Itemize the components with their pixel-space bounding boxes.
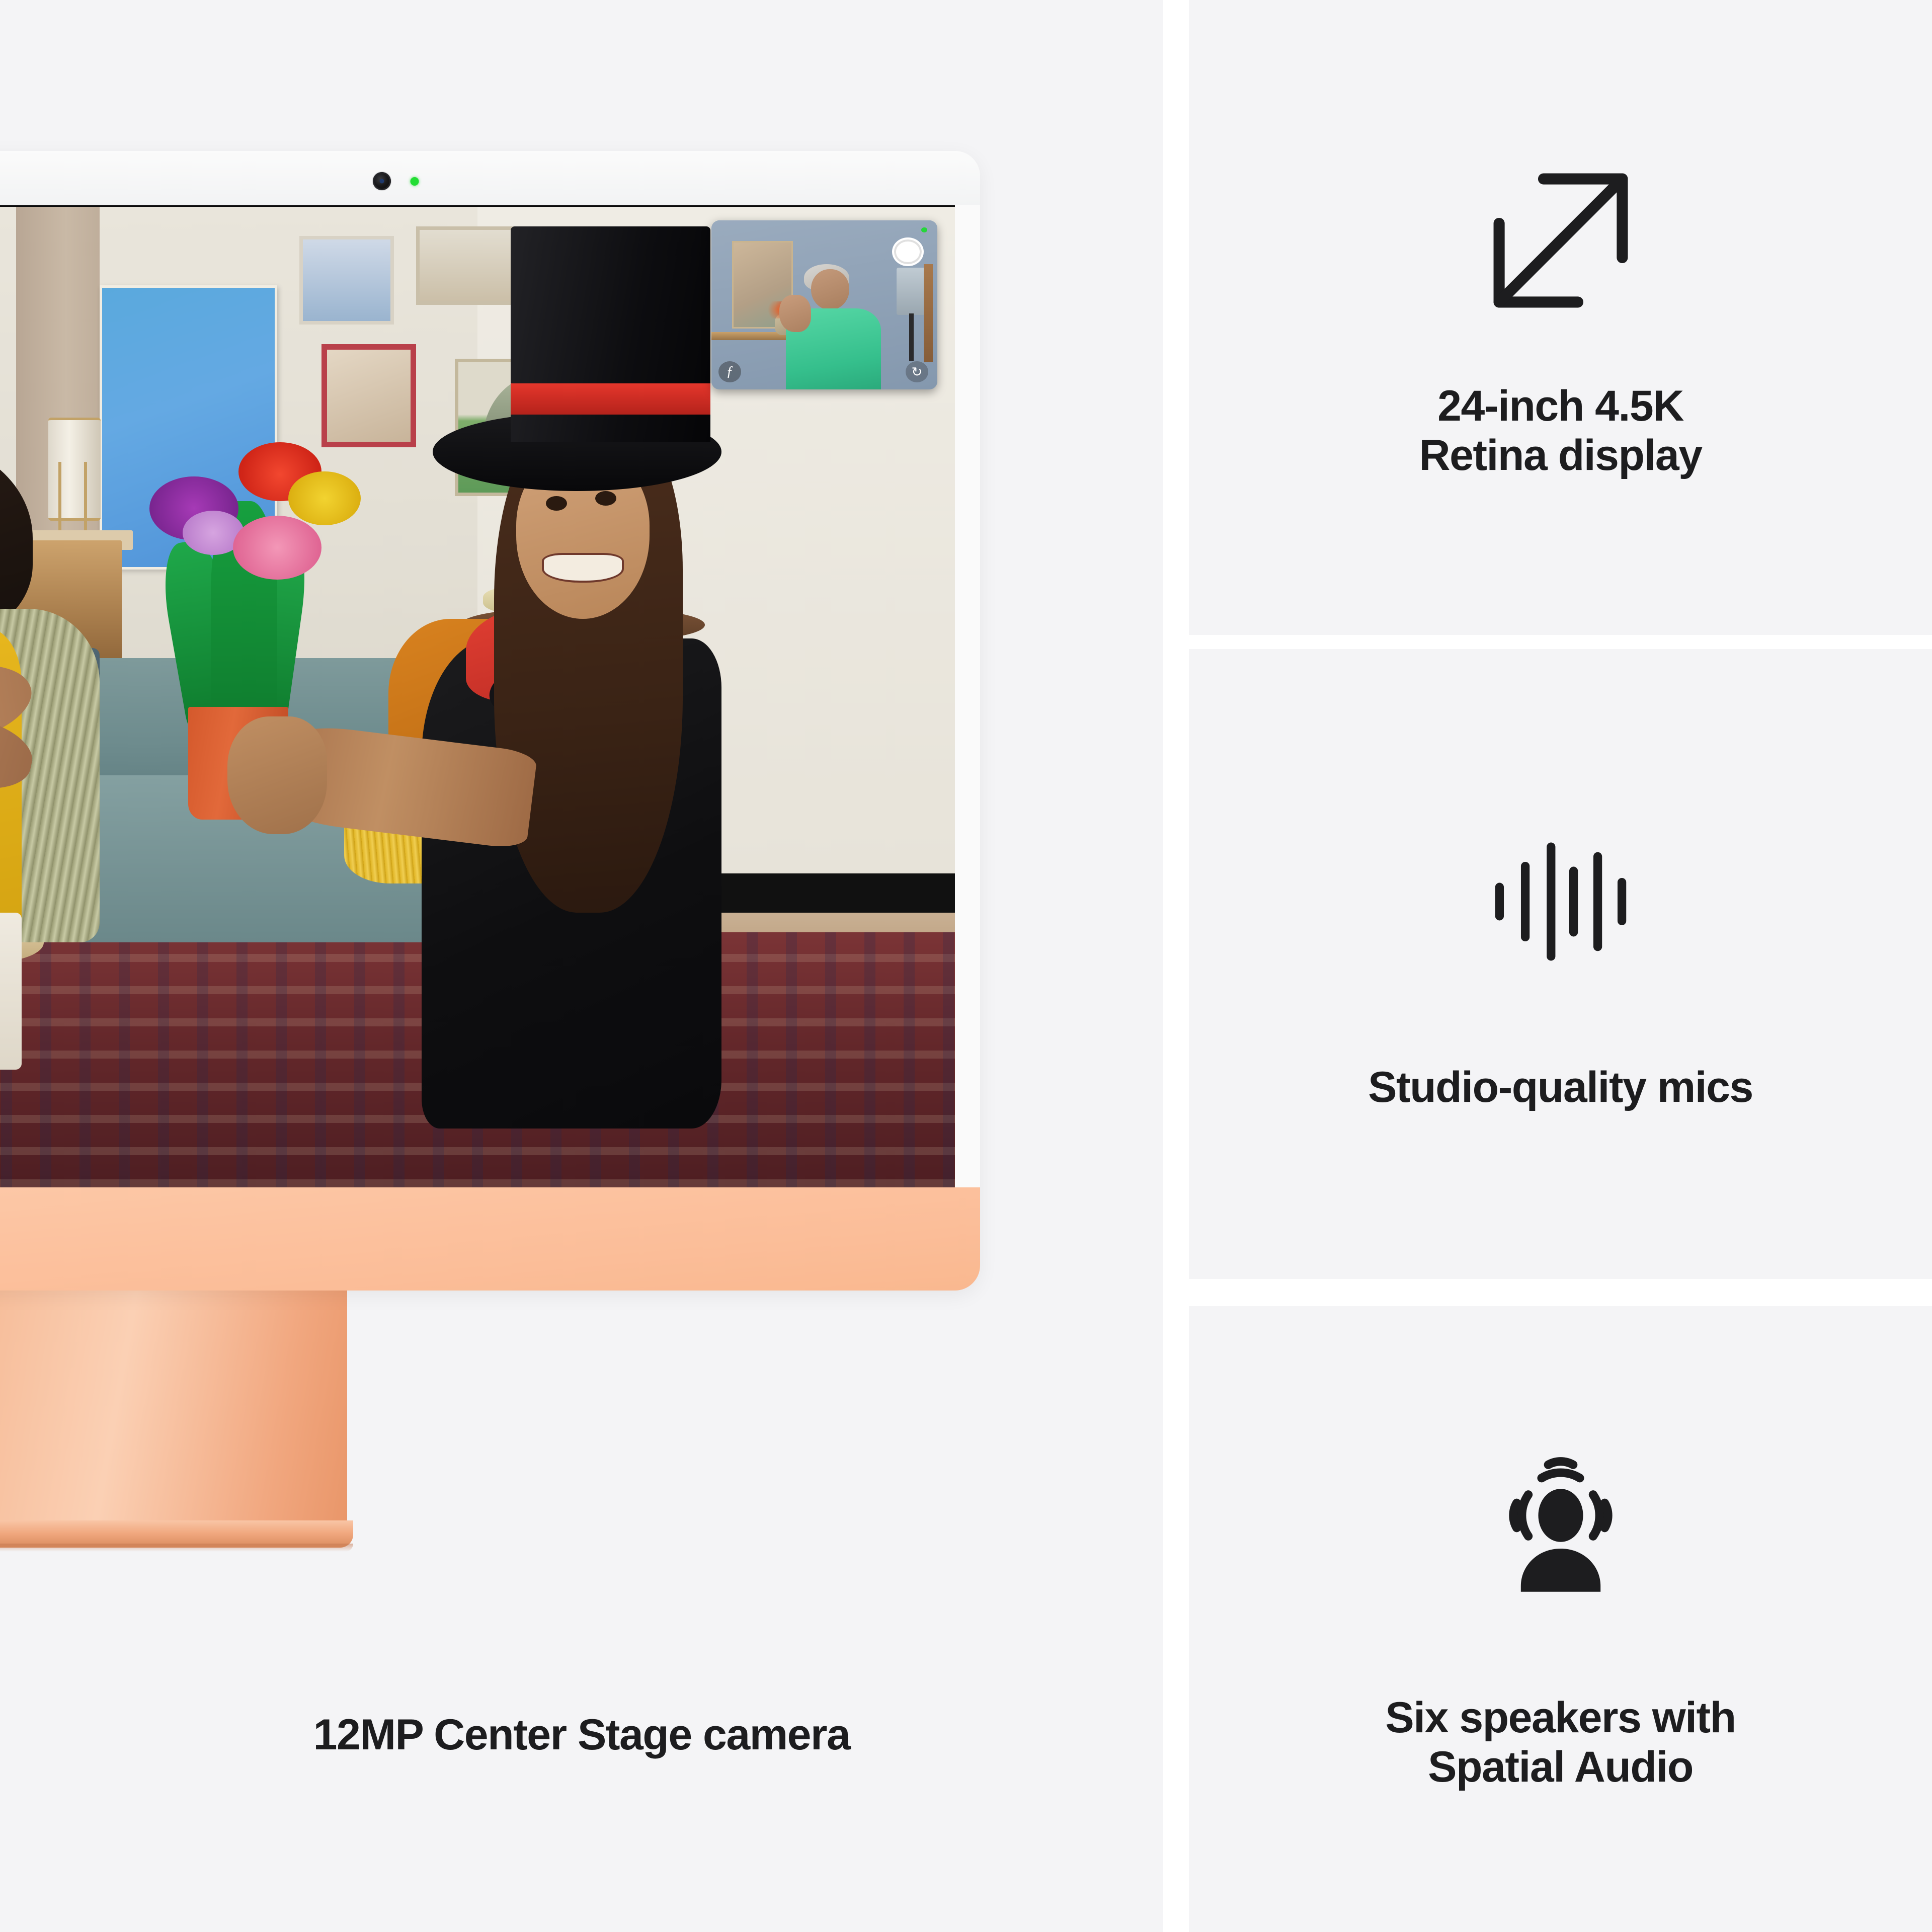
feature-label-mics: Studio-quality mics xyxy=(1368,1063,1753,1112)
audio-waveform-icon xyxy=(1475,816,1646,987)
feature-label-display-line1: 24-inch 4.5K xyxy=(1437,382,1683,430)
feature-label-speakers-line2: Spatial Audio xyxy=(1428,1743,1693,1791)
feature-panel-column: 24-inch 4.5K Retina display Stu xyxy=(1189,0,1932,1932)
feature-card-mics: Studio-quality mics xyxy=(1189,649,1932,1279)
feature-card-speakers: Six speakers with Spatial Audio xyxy=(1189,1306,1932,1932)
feature-label-speakers-line1: Six speakers with xyxy=(1385,1694,1735,1742)
pip-recording-indicator-icon xyxy=(921,227,927,233)
feature-label-display: 24-inch 4.5K Retina display xyxy=(1419,381,1702,480)
scene-flower-yellow xyxy=(288,471,361,525)
imac-device: ƒ ↻ xyxy=(0,151,980,1291)
feature-label-speakers: Six speakers with Spatial Audio xyxy=(1385,1693,1735,1792)
scene-child-eye-right xyxy=(595,491,616,506)
scene-child-top-hat-red-band xyxy=(511,383,710,415)
imac-stand-neck xyxy=(0,1288,347,1530)
pip-shutter-button[interactable] xyxy=(892,237,924,266)
scene-child-smile xyxy=(544,555,622,581)
pip-person-face xyxy=(811,269,849,309)
imac-top-bezel xyxy=(0,151,980,205)
hero-panel: ƒ ↻ 12MP Center Stage camera xyxy=(0,0,1163,1932)
facetime-video-scene: ƒ ↻ xyxy=(0,207,955,1187)
hero-caption: 12MP Center Stage camera xyxy=(0,1711,1163,1759)
imac-chin xyxy=(0,1187,980,1291)
diagonal-resize-arrows-icon xyxy=(1475,155,1646,326)
scene-child-hand xyxy=(227,716,328,834)
pip-lamp-shade xyxy=(897,268,926,315)
portrait-mode-icon[interactable]: ƒ xyxy=(718,361,741,382)
pip-person-hand xyxy=(779,295,811,332)
center-stage-camera-icon xyxy=(373,172,391,190)
scene-framed-art-top-2 xyxy=(416,226,522,305)
pip-wood-post xyxy=(924,264,933,362)
feature-label-display-line2: Retina display xyxy=(1419,431,1702,479)
scene-woman-pants xyxy=(0,913,22,1070)
pip-lamp-pole xyxy=(909,313,914,361)
feature-card-display: 24-inch 4.5K Retina display xyxy=(1189,0,1932,635)
spatial-audio-person-icon xyxy=(1475,1446,1646,1618)
imac-display: ƒ ↻ xyxy=(0,205,955,1187)
scene-brass-floor-lamp-shade xyxy=(48,418,101,521)
camera-indicator-light-icon xyxy=(411,177,419,186)
facetime-pip-selfview[interactable]: ƒ ↻ xyxy=(711,220,937,389)
flip-camera-icon[interactable]: ↻ xyxy=(906,361,928,382)
scene-flower-pink xyxy=(233,516,322,580)
scene-framed-art-top-1 xyxy=(299,236,394,324)
imac-stand-foot-shadow xyxy=(0,1544,353,1552)
page-root: ƒ ↻ 12MP Center Stage camera xyxy=(0,0,1932,1932)
scene-red-framed-art xyxy=(321,344,416,447)
